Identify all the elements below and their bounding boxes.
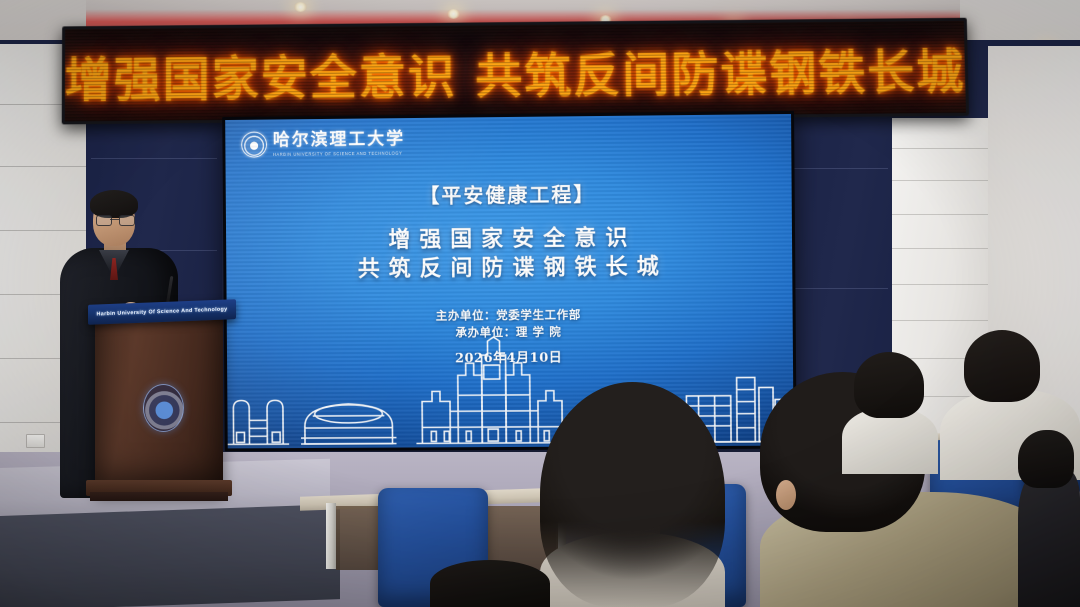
slide-title-line-2: 共筑反间防谍钢铁长城: [226, 251, 792, 284]
audience-3-hair: [964, 330, 1040, 402]
podium-plinth: [90, 492, 228, 501]
audience-5-hair: [1018, 430, 1074, 488]
audience-member-6: [430, 560, 550, 607]
desk-leg-left: [326, 503, 336, 569]
audience-member-1: [540, 382, 725, 607]
slide-main-title: 增强国家安全意识 共筑反间防谍钢铁长城: [226, 222, 792, 284]
photo-scene: 增强国家安全意识 共筑反间防谍钢铁长城 哈尔滨理工大学 HARBIN UNIVE…: [0, 0, 1080, 607]
podium-emblem-icon: [143, 384, 184, 432]
audience-member-5: [1018, 430, 1080, 607]
logo-chinese-name: 哈尔滨理工大学: [273, 131, 405, 149]
audience-4-hair: [854, 352, 924, 418]
downlight-1: [294, 2, 307, 12]
speaker-hair: [90, 190, 138, 218]
audience-2-ear: [776, 480, 796, 510]
audience-member-4: [842, 352, 938, 462]
audience-5-body: [1018, 470, 1080, 607]
downlight-2: [447, 9, 460, 19]
slide-bracket-title: 【平安健康工程】: [226, 176, 792, 210]
audience-1-hair: [540, 382, 725, 607]
logo-english-name: HARBIN UNIVERSITY OF SCIENCE AND TECHNOL…: [273, 151, 405, 157]
slide-university-logo: 哈尔滨理工大学 HARBIN UNIVERSITY OF SCIENCE AND…: [241, 130, 405, 158]
audience-6-hair: [430, 560, 550, 607]
speaker-glasses-icon: [96, 215, 133, 224]
podium-sign-text: Harbin University Of Science And Technol…: [97, 306, 228, 317]
